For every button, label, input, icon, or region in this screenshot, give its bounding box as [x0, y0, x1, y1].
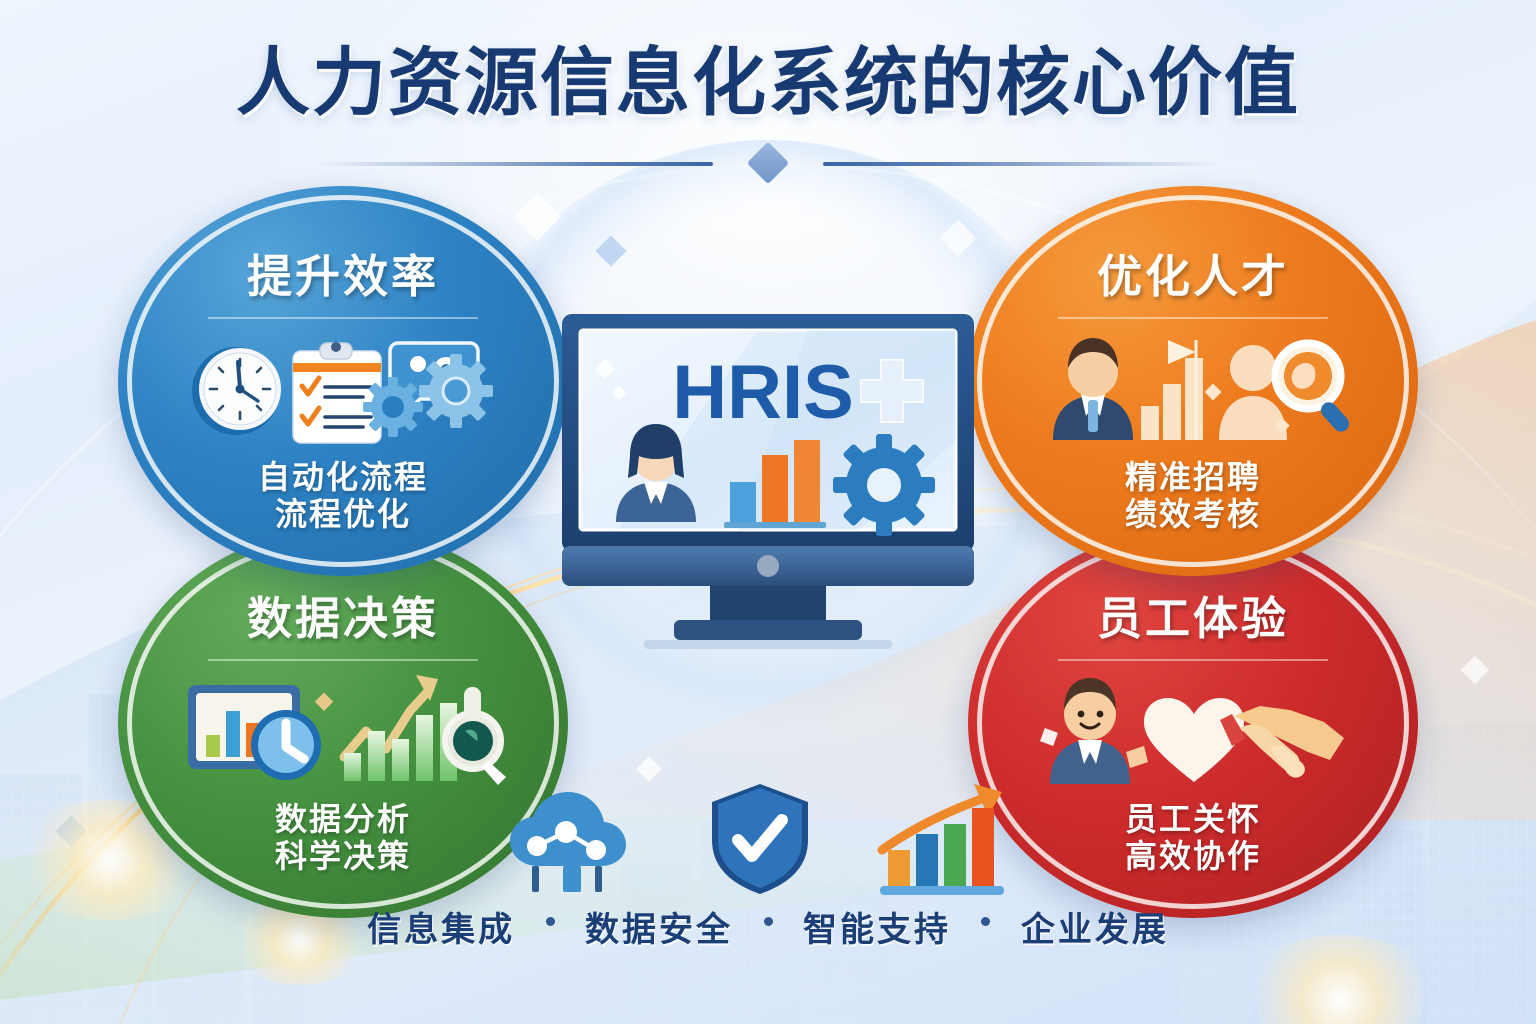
quadrant-title: 员工体验	[1097, 582, 1289, 647]
quadrant-title: 提升效率	[247, 240, 439, 305]
footer-keyword: 智能支持	[803, 902, 951, 951]
footer-keyword: 数据安全	[585, 902, 733, 951]
quadrant-title: 数据决策	[247, 582, 439, 647]
growth-chart-arrow-icon[interactable]	[870, 778, 1020, 898]
hris-monitor[interactable]: HRIS	[558, 300, 978, 660]
monitor-base	[674, 620, 862, 640]
handshake-icon	[1220, 706, 1344, 778]
gear-icon	[833, 434, 935, 536]
smiling-employee-icon	[1050, 678, 1148, 784]
page-title: 人力资源信息化系统的核心价值	[0, 46, 1536, 120]
quadrant-subtitle: 自动化流程 流程优化	[258, 459, 428, 533]
quadrant-rule	[1058, 317, 1328, 319]
footer-keyword: 信息集成	[367, 902, 515, 951]
quadrant-title: 优化人才	[1097, 240, 1289, 305]
clipboard-checklist-icon	[293, 342, 381, 443]
magnifier-icon	[1275, 343, 1352, 435]
hris-label: HRIS	[672, 350, 854, 435]
header: 人力资源信息化系统的核心价值	[0, 46, 1536, 180]
business-person-icon	[1053, 338, 1133, 440]
quadrant-subtitle-line2: 绩效考核	[1125, 496, 1261, 533]
footer-keywords: 信息集成 数据安全 智能支持 企业发展	[0, 902, 1536, 951]
monitor-power-button	[757, 555, 779, 577]
quadrant-rule	[1058, 659, 1328, 661]
quadrant-subtitle: 精准招聘 绩效考核	[1125, 459, 1261, 533]
quadrant-rule	[208, 317, 478, 319]
quadrant-subtitle-line1: 自动化流程	[258, 459, 428, 496]
cloud-network-icon[interactable]	[500, 778, 650, 898]
quadrant-subtitle: 数据分析 科学决策	[275, 801, 411, 875]
quadrant-subtitle-line2: 流程优化	[258, 496, 428, 533]
quadrant-subtitle-line1: 员工关怀	[1125, 801, 1261, 838]
trend-up-icon	[344, 675, 457, 781]
bottom-icon-row	[500, 778, 1020, 898]
quadrant-subtitle-line2: 高效协作	[1125, 838, 1261, 875]
quadrant-rule	[208, 659, 478, 661]
quadrant-subtitle-line2: 科学决策	[275, 838, 411, 875]
infographic-canvas: 人力资源信息化系统的核心价值 提升效率	[0, 0, 1536, 1024]
quadrant-efficiency[interactable]: 提升效率	[118, 186, 568, 576]
footer-separator-dot	[764, 917, 773, 926]
quadrant-talent[interactable]: 优化人才	[968, 186, 1418, 576]
quadrant-icon-group	[178, 667, 508, 795]
clock-icon	[192, 347, 281, 435]
quadrant-icon-group	[188, 325, 498, 453]
quadrant-employee[interactable]: 员工体验	[968, 528, 1418, 918]
footer-separator-dot	[981, 917, 990, 926]
quadrant-subtitle-line1: 数据分析	[275, 801, 411, 838]
quadrant-icon-group	[1034, 667, 1352, 795]
quadrant-icon-group	[1033, 325, 1353, 453]
footer-keyword: 企业发展	[1021, 902, 1169, 951]
footer-separator-dot	[546, 917, 555, 926]
shield-check-icon[interactable]	[700, 778, 820, 898]
title-divider	[318, 146, 1218, 180]
clock-icon	[251, 710, 321, 780]
diamond-icon	[747, 142, 789, 184]
quadrant-subtitle-line1: 精准招聘	[1125, 459, 1261, 496]
heart-icon	[1144, 698, 1244, 782]
growth-bar-icon	[1141, 340, 1203, 440]
quadrant-subtitle: 员工关怀 高效协作	[1125, 801, 1261, 875]
